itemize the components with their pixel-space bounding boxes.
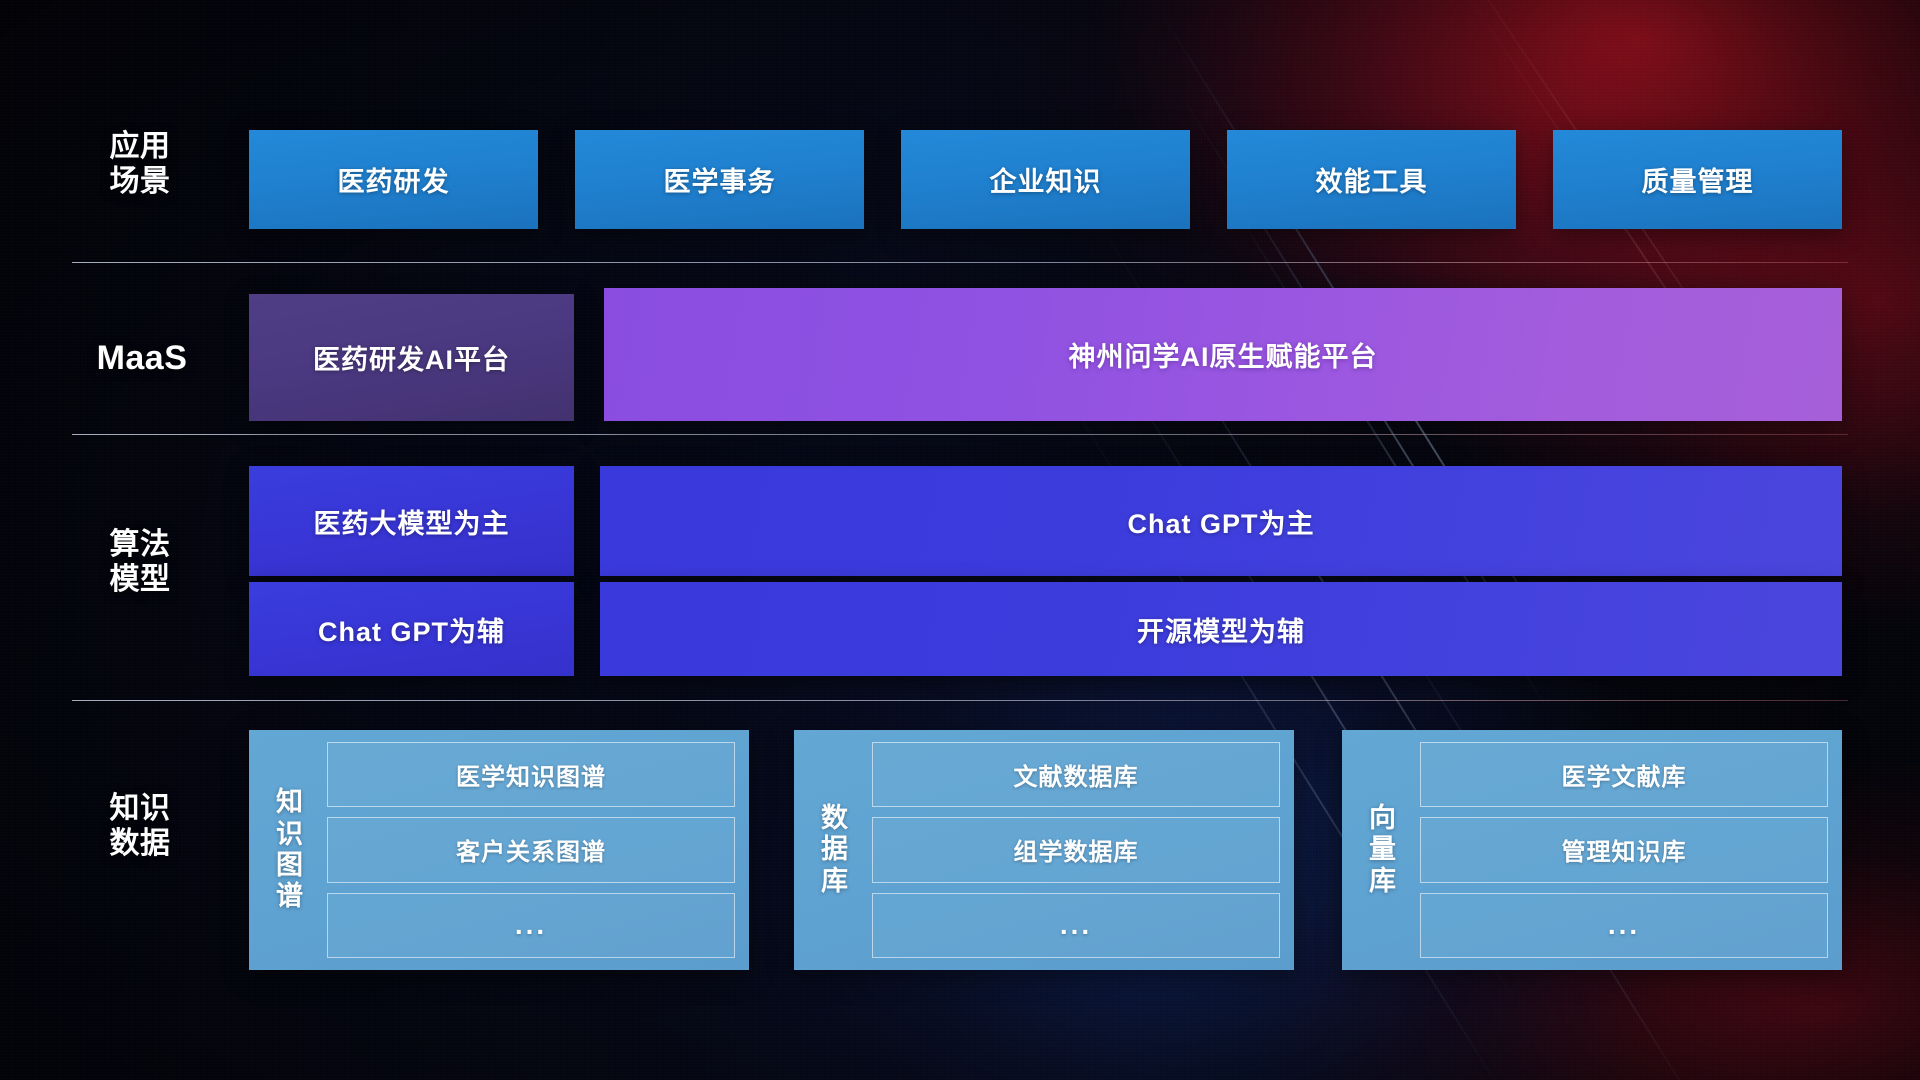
algorithm-card-opensource-secondary[interactable]: 开源模型为辅	[600, 582, 1842, 676]
knowledge-group-database[interactable]: 数 据 库 文献数据库 组学数据库 ...	[794, 730, 1294, 970]
scenario-card-label: 质量管理	[1642, 160, 1754, 199]
algorithm-card-chatgpt-primary[interactable]: Chat GPT为主	[600, 466, 1842, 576]
knowledge-group-title: 数 据 库	[804, 742, 866, 958]
knowledge-item[interactable]: 客户关系图谱	[327, 817, 735, 882]
knowledge-item[interactable]: 医学文献库	[1420, 742, 1828, 807]
scenario-card-enterprise-knowledge[interactable]: 企业知识	[901, 130, 1190, 229]
knowledge-group-title: 向 量 库	[1352, 742, 1414, 958]
algorithm-card-chatgpt-secondary[interactable]: Chat GPT为辅	[249, 582, 574, 676]
knowledge-group-items: 医学知识图谱 客户关系图谱 ...	[321, 742, 735, 958]
algorithm-card-label: 医药大模型为主	[314, 502, 510, 541]
row-label-maas: MaaS	[74, 330, 210, 386]
knowledge-group-knowledge-graph[interactable]: 知 识 图 谱 医学知识图谱 客户关系图谱 ...	[249, 730, 749, 970]
scenario-card-quality-management[interactable]: 质量管理	[1553, 130, 1842, 229]
maas-card-shenzhou-wenxue-platform[interactable]: 神州问学AI原生赋能平台	[604, 288, 1842, 421]
row-label-line: 算法	[110, 527, 171, 562]
knowledge-group-title-char: 据	[821, 834, 849, 864]
scenario-card-label: 医学事务	[664, 160, 776, 199]
knowledge-group-title-char: 识	[276, 819, 304, 849]
row-label-knowledge-data: 知识 数据	[80, 780, 200, 872]
knowledge-item-more[interactable]: ...	[327, 893, 735, 958]
scenario-card-efficiency-tools[interactable]: 效能工具	[1227, 130, 1516, 229]
knowledge-group-title-char: 图	[276, 850, 304, 880]
algorithm-card-label: Chat GPT为辅	[318, 610, 505, 649]
maas-card-label: 医药研发AI平台	[313, 338, 510, 377]
knowledge-item-more[interactable]: ...	[1420, 893, 1828, 958]
knowledge-item[interactable]: 管理知识库	[1420, 817, 1828, 882]
scenario-card-medicine-rd[interactable]: 医药研发	[249, 130, 538, 229]
knowledge-group-title: 知 识 图 谱	[259, 742, 321, 958]
row-label-application-scenarios: 应用 场景	[80, 118, 200, 210]
knowledge-item[interactable]: 组学数据库	[872, 817, 1280, 882]
scenario-card-label: 医药研发	[338, 160, 450, 199]
maas-card-label: 神州问学AI原生赋能平台	[1069, 335, 1378, 374]
scenario-card-label: 企业知识	[990, 160, 1102, 199]
algorithm-card-medicine-llm-primary[interactable]: 医药大模型为主	[249, 466, 574, 576]
algorithm-card-label: 开源模型为辅	[1137, 610, 1305, 649]
divider-algorithm-knowledge	[72, 700, 1848, 701]
row-label-line: 知识	[110, 791, 171, 826]
divider-maas-algorithm	[72, 434, 1848, 435]
knowledge-group-items: 医学文献库 管理知识库 ...	[1414, 742, 1828, 958]
knowledge-group-title-char: 知	[276, 787, 304, 817]
knowledge-item[interactable]: 医学知识图谱	[327, 742, 735, 807]
maas-card-medicine-ai-platform[interactable]: 医药研发AI平台	[249, 294, 574, 421]
knowledge-item[interactable]: 文献数据库	[872, 742, 1280, 807]
divider-applications-maas	[72, 262, 1848, 263]
knowledge-group-title-char: 谱	[276, 881, 304, 911]
row-label-line: 模型	[110, 562, 171, 597]
row-label-line: 场景	[110, 164, 171, 199]
knowledge-group-title-char: 向	[1369, 803, 1397, 833]
row-label-line: 应用	[110, 129, 171, 164]
scenario-card-medical-affairs[interactable]: 医学事务	[575, 130, 864, 229]
knowledge-group-title-char: 量	[1369, 834, 1397, 864]
knowledge-group-title-char: 库	[821, 866, 849, 896]
scenario-card-label: 效能工具	[1316, 160, 1428, 199]
knowledge-group-title-char: 数	[821, 803, 849, 833]
row-label-algorithm-model: 算法 模型	[80, 516, 200, 608]
row-label-line: MaaS	[97, 338, 188, 378]
knowledge-group-items: 文献数据库 组学数据库 ...	[866, 742, 1280, 958]
knowledge-item-more[interactable]: ...	[872, 893, 1280, 958]
row-label-line: 数据	[110, 826, 171, 861]
algorithm-card-label: Chat GPT为主	[1127, 502, 1314, 541]
knowledge-group-title-char: 库	[1369, 866, 1397, 896]
knowledge-group-vector-store[interactable]: 向 量 库 医学文献库 管理知识库 ...	[1342, 730, 1842, 970]
